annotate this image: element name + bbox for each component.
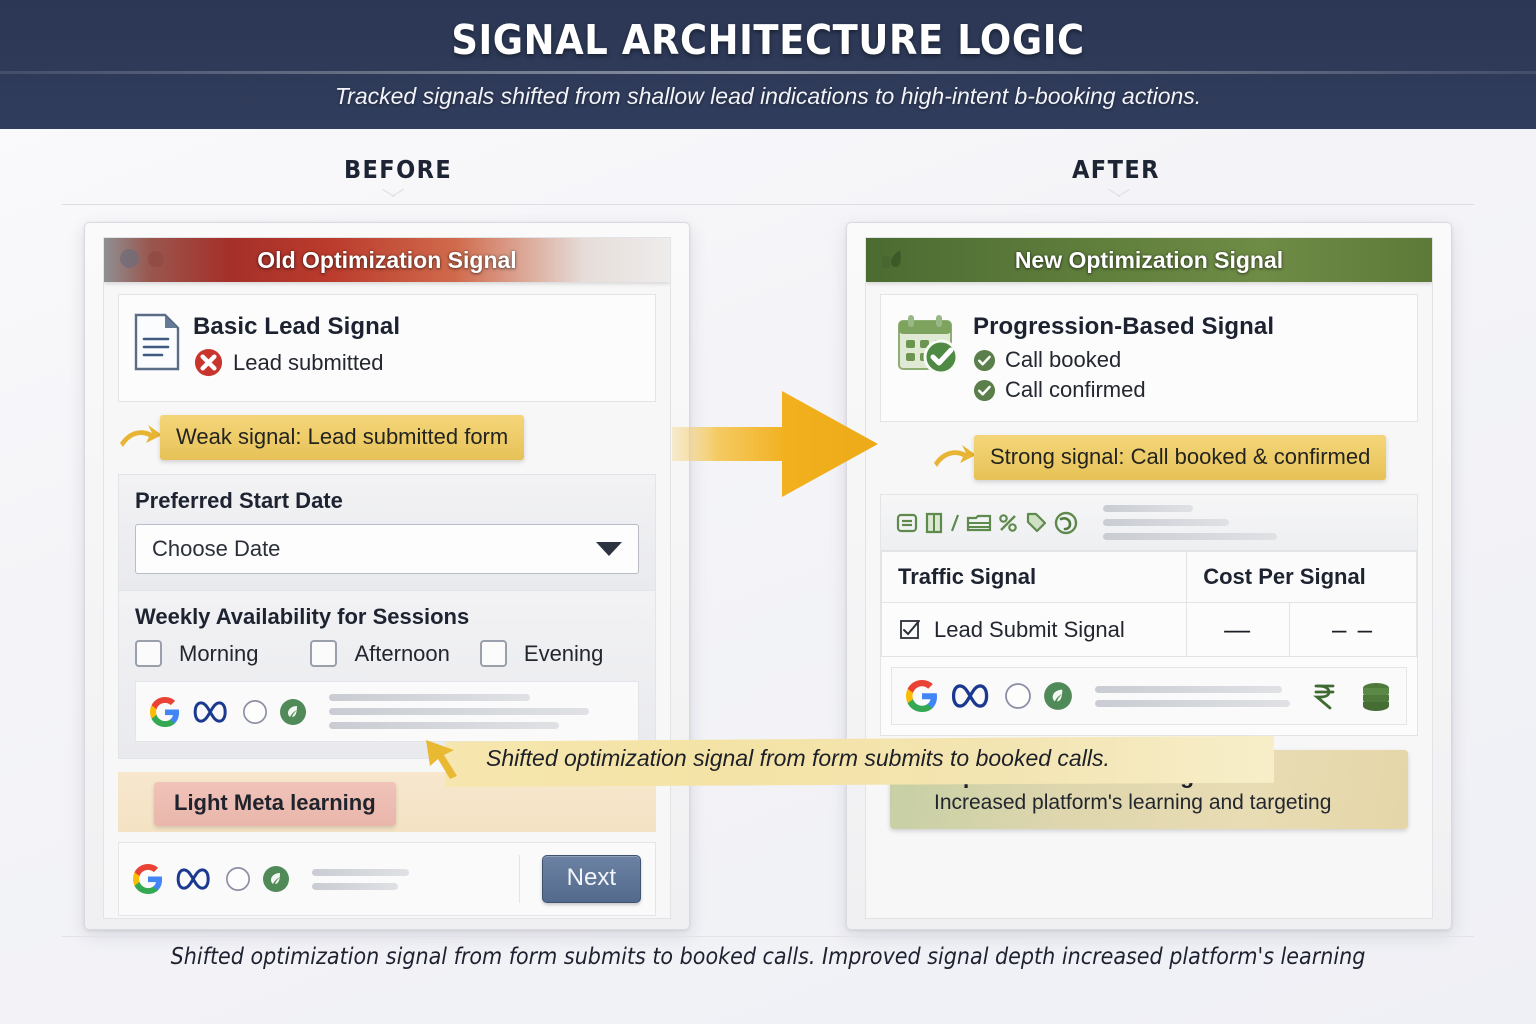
before-hero-status: Lead submitted <box>193 347 400 378</box>
leaf-badge-icon <box>279 698 307 726</box>
rupee-icon <box>1310 680 1340 712</box>
book-icon[interactable] <box>924 511 944 535</box>
preferred-start-date-group: Preferred Start Date Choose Date <box>118 474 656 591</box>
page-title: SIGNAL ARCHITECTURE LOGIC <box>0 16 1536 64</box>
after-brandbar <box>891 667 1407 725</box>
before-window: Old Optimization Signal Basic Lead Signa… <box>103 237 671 919</box>
column-label-after: AFTER <box>1072 155 1160 184</box>
google-icon <box>133 864 163 894</box>
page-subtitle: Tracked signals shifted from shallow lea… <box>0 83 1536 110</box>
table-header-cost-per-signal: Cost Per Signal <box>1187 552 1417 603</box>
ring-icon <box>225 866 251 892</box>
after-panel-body: Progression-Based Signal Call booked <box>866 282 1432 918</box>
document-icon <box>133 313 181 371</box>
leaf-badge-icon <box>262 865 290 893</box>
column-divider <box>62 204 1474 205</box>
after-titlebar-text: New Optimization Signal <box>1015 247 1283 274</box>
after-callout: Strong signal: Call booked & confirmed <box>974 435 1386 480</box>
meta-icon <box>191 698 231 726</box>
footer-divider <box>62 936 1474 937</box>
meta-icon <box>949 681 993 711</box>
before-brandbar-icons <box>150 697 307 727</box>
coins-icon <box>1360 681 1392 711</box>
big-right-arrow-icon <box>672 385 878 503</box>
before-callout: Weak signal: Lead submitted form <box>160 415 524 460</box>
before-hero-status-text: Lead submitted <box>233 350 383 376</box>
traffic-signal-table: Traffic Signal Cost Per Signal <box>881 551 1417 657</box>
before-callout-row: Weak signal: Lead submitted form <box>118 415 656 460</box>
before-footer-skeleton <box>302 869 499 890</box>
after-toolstrip-skeleton <box>1093 505 1403 540</box>
after-hero-item-0: Call booked <box>973 347 1274 373</box>
tag-icon[interactable] <box>1024 511 1048 535</box>
before-footer-bar: Next <box>118 842 656 916</box>
window-controls[interactable] <box>120 249 164 268</box>
preferred-start-date-label: Preferred Start Date <box>135 488 639 514</box>
after-brandbar-icons <box>906 680 1073 712</box>
percent-icon[interactable] <box>997 511 1019 535</box>
choose-date-select[interactable]: Choose Date <box>135 524 639 574</box>
footer-caption: Shifted optimization signal from form su… <box>0 944 1536 970</box>
checkbox-afternoon[interactable] <box>310 640 337 667</box>
after-titlebar: New Optimization Signal <box>866 238 1432 282</box>
after-table-card: Traffic Signal Cost Per Signal <box>880 494 1418 736</box>
column-label-before: BEFORE <box>344 155 452 184</box>
table-row[interactable]: Lead Submit Signal — – – <box>882 603 1417 657</box>
shifted-signal-banner: Shifted optimization signal from form su… <box>418 733 1274 787</box>
calendar-check-icon <box>895 313 961 375</box>
google-icon <box>150 697 180 727</box>
slash-icon <box>949 511 961 535</box>
before-panel: Old Optimization Signal Basic Lead Signa… <box>84 222 690 930</box>
table-header-row: Traffic Signal Cost Per Signal <box>882 552 1417 603</box>
table-header-traffic-signal: Traffic Signal <box>882 552 1187 603</box>
divider-notch-before <box>380 196 406 206</box>
improved-meta-learning-subtitle: Increased platform's learning and target… <box>934 791 1392 815</box>
folder-icon[interactable] <box>966 511 992 535</box>
arrow-right-small-icon <box>118 421 164 455</box>
before-brandbar-skeleton <box>319 694 624 729</box>
after-hero-title: Progression-Based Signal <box>973 313 1274 341</box>
weekly-availability-label: Weekly Availability for Sessions <box>135 604 639 630</box>
before-hero-texts: Basic Lead Signal Lead submitted <box>193 311 400 378</box>
before-signal-card: Basic Lead Signal Lead submitted <box>118 294 656 402</box>
before-panel-body: Basic Lead Signal Lead submitted <box>104 282 670 918</box>
leaf-icon <box>880 248 906 272</box>
checkbox-evening-label: Evening <box>524 641 604 667</box>
after-panel: New Optimization Signal <box>846 222 1452 930</box>
shifted-signal-banner-text: Shifted optimization signal from form su… <box>486 745 1110 772</box>
list-icon[interactable] <box>895 511 919 535</box>
check-circle-icon <box>973 379 996 402</box>
window-dot-gray-icon[interactable] <box>120 249 139 268</box>
page-header: SIGNAL ARCHITECTURE LOGIC Tracked signal… <box>0 0 1536 129</box>
after-hero-item-1: Call confirmed <box>973 377 1274 403</box>
light-meta-learning-tag: Light Meta learning <box>154 782 396 826</box>
check-circle-icon <box>973 349 996 372</box>
after-hero-item-0-text: Call booked <box>1005 347 1121 373</box>
checkbox-morning[interactable] <box>135 640 162 667</box>
before-titlebar: Old Optimization Signal <box>104 238 670 282</box>
availability-checkboxes: Morning Afternoon Evening <box>135 640 639 667</box>
checkbox-checked-icon[interactable] <box>898 618 922 642</box>
arrow-right-small-icon <box>932 441 978 475</box>
after-hero-item-1-text: Call confirmed <box>1005 377 1146 403</box>
meta-icon <box>174 865 214 893</box>
after-brandbar-skeleton <box>1085 686 1298 707</box>
ring-icon <box>1004 682 1032 710</box>
after-toolstrip <box>881 495 1417 551</box>
before-titlebar-text: Old Optimization Signal <box>257 247 516 274</box>
choose-date-value: Choose Date <box>152 536 280 562</box>
leaf-badge-icon <box>1043 681 1073 711</box>
checkbox-evening[interactable] <box>480 640 507 667</box>
after-signal-card: Progression-Based Signal Call booked <box>880 294 1418 422</box>
after-window: New Optimization Signal <box>865 237 1433 919</box>
refresh-icon[interactable] <box>1053 510 1079 536</box>
checkbox-morning-label: Morning <box>179 641 258 667</box>
arrow-left-pointer-icon <box>424 736 476 780</box>
checkbox-afternoon-label: Afternoon <box>354 641 449 667</box>
after-callout-row: Strong signal: Call booked & confirmed <box>880 435 1418 480</box>
table-cell-signal-name: Lead Submit Signal <box>882 603 1187 657</box>
x-circle-icon <box>193 347 224 378</box>
table-cell-signal-label: Lead Submit Signal <box>934 617 1125 643</box>
ring-icon <box>242 699 268 725</box>
after-toolstrip-icons[interactable] <box>895 510 1079 536</box>
google-icon <box>906 680 938 712</box>
window-dot-red-icon[interactable] <box>148 251 164 267</box>
after-hero-texts: Progression-Based Signal Call booked <box>973 311 1274 403</box>
divider-notch-after <box>1106 196 1132 206</box>
chevron-down-icon[interactable] <box>596 542 622 556</box>
before-hero-title: Basic Lead Signal <box>193 313 400 341</box>
before-footer-icons <box>133 864 290 894</box>
table-cell-value-1: — <box>1187 603 1290 657</box>
table-cell-value-2: – – <box>1290 603 1417 657</box>
next-button-wrap: Next <box>519 855 641 903</box>
next-button[interactable]: Next <box>542 855 641 903</box>
